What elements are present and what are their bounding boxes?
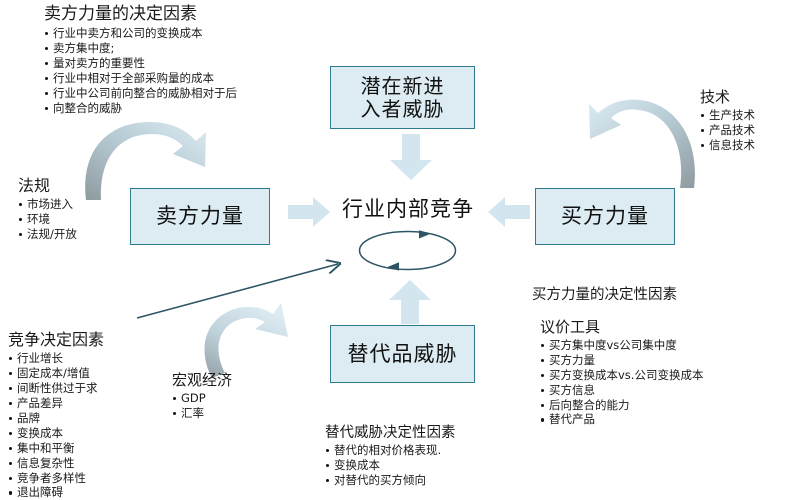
- list-item: 替代产品: [540, 412, 703, 427]
- box-threat-of-substitutes-label: 替代品威胁: [348, 342, 458, 366]
- list-item: 汇率: [172, 406, 232, 421]
- group-supplier-power-determinants-list: 行业中卖方和公司的变换成本 卖方集中度; 量对卖方的重要性 行业中相对于全部采购…: [44, 26, 237, 116]
- list-item: 品牌: [8, 411, 104, 426]
- group-technology-list: 生产技术 产品技术 信息技术: [700, 108, 755, 153]
- list-item: 买方集中度vs公司集中度: [540, 338, 703, 353]
- list-item: 量对卖方的重要性: [44, 56, 237, 71]
- group-buyer-bargaining-tools-title: 议价工具: [540, 318, 703, 337]
- group-substitute-determinants: 替代威胁决定性因素 替代的相对价格表现. 变换成本 对替代的买方倾向: [325, 424, 456, 488]
- list-item: 变换成本: [8, 426, 104, 441]
- list-item: 买方力量: [540, 353, 703, 368]
- list-item: 行业增长: [8, 351, 104, 366]
- list-item: 行业中相对于全部采购量的成本: [44, 71, 237, 86]
- box-threat-of-new-entrants[interactable]: 潜在新进 入者威胁: [330, 66, 475, 129]
- block-arrow-up-substitutes: [389, 280, 431, 324]
- list-item: 信息复杂性: [8, 456, 104, 471]
- group-competition-determinants-list: 行业增长 固定成本/增值 间断性供过于求 产品差异 品牌 变换成本 集中和平衡 …: [8, 351, 104, 500]
- list-item: 退出障碍: [8, 485, 104, 500]
- list-item: GDP: [172, 391, 232, 406]
- group-competition-determinants-title: 竞争决定因素: [8, 330, 104, 350]
- list-item: 卖方集中度;: [44, 41, 237, 56]
- list-item: 向整合的威胁: [44, 101, 237, 116]
- box-buyer-power-label: 买方力量: [561, 204, 649, 228]
- group-substitute-determinants-list: 替代的相对价格表现. 变换成本 对替代的买方倾向: [325, 443, 456, 488]
- list-item: 环境: [18, 212, 77, 227]
- group-substitute-determinants-title: 替代威胁决定性因素: [325, 424, 456, 442]
- group-supplier-power-determinants-title: 卖方力量的决定因素: [44, 4, 237, 25]
- group-regulation-title: 法规: [18, 176, 77, 196]
- block-arrow-left-buyers: [488, 197, 530, 227]
- group-macro-economy-list: GDP 汇率: [172, 391, 232, 421]
- list-item: 买方信息: [540, 383, 703, 398]
- list-item: 法规/开放: [18, 227, 77, 242]
- group-regulation-list: 市场进入 环境 法规/开放: [18, 197, 77, 242]
- list-item: 后向整合的能力: [540, 398, 703, 413]
- group-competition-determinants: 竞争决定因素 行业增长 固定成本/增值 间断性供过于求 产品差异 品牌 变换成本…: [8, 330, 104, 500]
- group-macro-economy-title: 宏观经济: [172, 371, 232, 390]
- label-industry-rivalry: 行业内部竞争: [333, 193, 483, 223]
- group-buyer-bargaining-tools-list: 买方集中度vs公司集中度 买方力量 买方变换成本vs.公司变换成本 买方信息 后…: [540, 338, 703, 428]
- box-threat-of-new-entrants-label: 潜在新进 入者威胁: [361, 75, 445, 121]
- list-item: 对替代的买方倾向: [325, 473, 456, 488]
- list-item: 市场进入: [18, 197, 77, 212]
- box-threat-of-substitutes[interactable]: 替代品威胁: [330, 325, 475, 383]
- group-macro-economy: 宏观经济 GDP 汇率: [172, 371, 232, 421]
- list-item: 产品技术: [700, 123, 755, 138]
- list-item: 固定成本/增值: [8, 366, 104, 381]
- list-item: 信息技术: [700, 138, 755, 153]
- list-item: 产品差异: [8, 396, 104, 411]
- group-regulation: 法规 市场进入 环境 法规/开放: [18, 176, 77, 242]
- list-item: 行业中卖方和公司的变换成本: [44, 26, 237, 41]
- list-item: 间断性供过于求: [8, 381, 104, 396]
- group-buyer-power-determinants-heading: 买方力量的决定性因素: [532, 283, 677, 304]
- box-buyer-power[interactable]: 买方力量: [535, 188, 675, 245]
- list-item: 生产技术: [700, 108, 755, 123]
- group-supplier-power-determinants: 卖方力量的决定因素 行业中卖方和公司的变换成本 卖方集中度; 量对卖方的重要性 …: [44, 4, 237, 116]
- rivalry-cycle-ellipse: [355, 228, 460, 273]
- list-item: 变换成本: [325, 458, 456, 473]
- list-item: 竞争者多样性: [8, 471, 104, 486]
- block-arrow-right-suppliers: [288, 197, 330, 227]
- list-item: 替代的相对价格表现.: [325, 443, 456, 458]
- list-item: 行业中公司前向整合的威胁相对于后: [44, 86, 237, 101]
- group-technology-title: 技术: [700, 88, 755, 107]
- box-supplier-power-label: 卖方力量: [156, 204, 244, 228]
- box-supplier-power[interactable]: 卖方力量: [130, 188, 270, 245]
- list-item: 集中和平衡: [8, 441, 104, 456]
- group-technology: 技术 生产技术 产品技术 信息技术: [700, 88, 755, 153]
- group-buyer-bargaining-tools: 议价工具 买方集中度vs公司集中度 买方力量 买方变换成本vs.公司变换成本 买…: [540, 318, 703, 427]
- list-item: 买方变换成本vs.公司变换成本: [540, 368, 703, 383]
- block-arrow-down-new-entrants: [390, 134, 432, 180]
